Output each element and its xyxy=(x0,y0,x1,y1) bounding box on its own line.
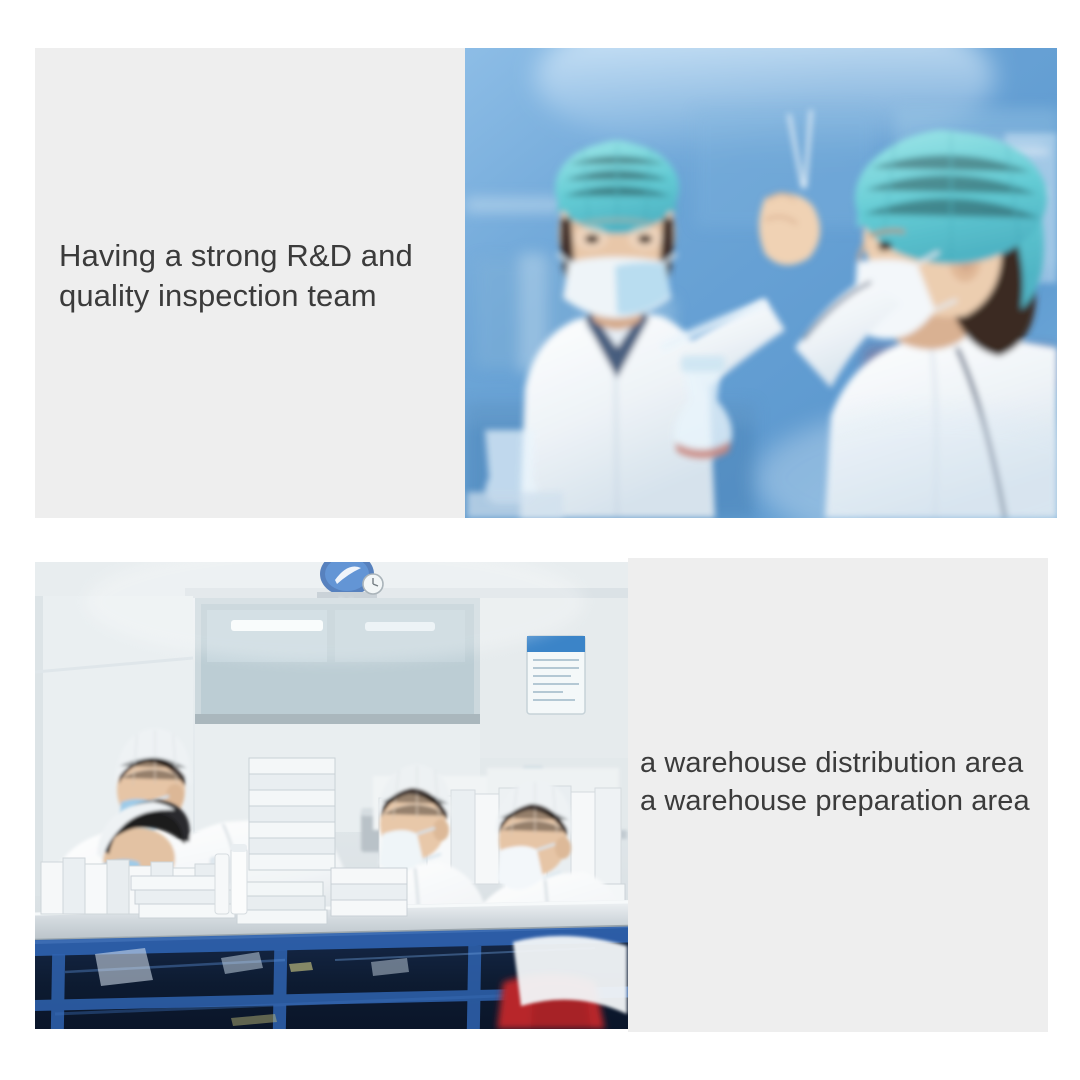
top-section: Having a strong R&D and quality inspecti… xyxy=(35,48,1057,518)
bottom-caption-text: a warehouse distribution area a warehous… xyxy=(640,745,1045,820)
top-caption-text: Having a strong R&D and quality inspecti… xyxy=(59,236,459,315)
lab-inspection-photo xyxy=(465,48,1057,518)
bottom-caption-panel: a warehouse distribution area a warehous… xyxy=(628,558,1048,1032)
page-root: Having a strong R&D and quality inspecti… xyxy=(0,0,1080,1080)
wall-poster xyxy=(527,636,585,714)
bottom-section: a warehouse distribution area a warehous… xyxy=(35,558,1048,1032)
warehouse-packing-photo xyxy=(35,562,628,1029)
warehouse-packing-photo-graphic xyxy=(35,562,628,1029)
top-caption-panel: Having a strong R&D and quality inspecti… xyxy=(35,48,465,518)
lab-inspection-photo-graphic xyxy=(465,48,1057,518)
